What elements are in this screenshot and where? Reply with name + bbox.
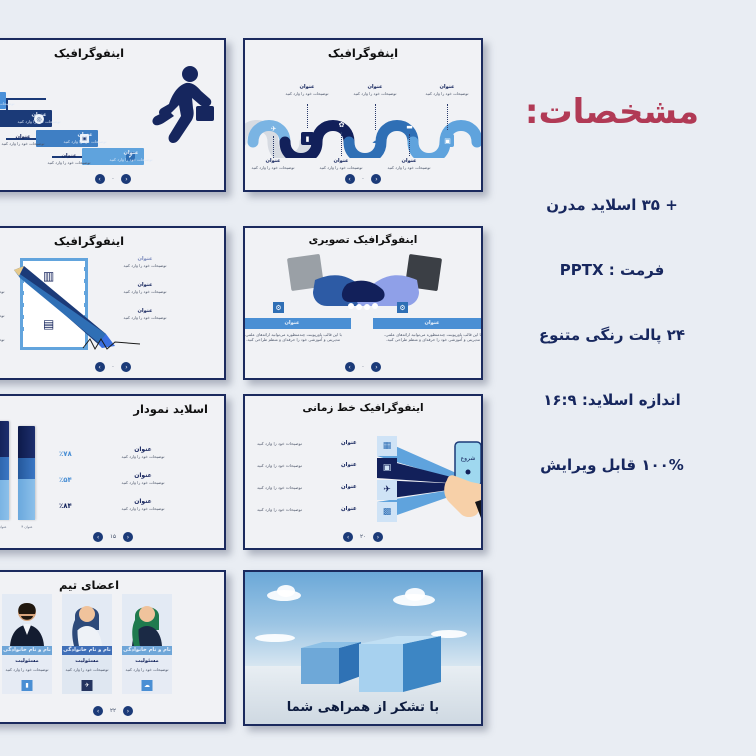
signature-squiggle (82, 336, 142, 354)
member-name-bar: نام و نام خانوادگی (122, 646, 172, 655)
svg-text:شروع: شروع (461, 455, 476, 462)
column-heading-bar-1: عنوان (245, 318, 351, 329)
step-caption-outer-2: عنوان توضیحات خود را وارد کنید (0, 134, 60, 146)
apps-icon: ▩ (377, 502, 397, 522)
chevron-right-icon[interactable]: › (371, 362, 381, 372)
chart-x-label-3: عنوان ۳ (0, 525, 12, 529)
chevron-right-icon[interactable]: › (371, 174, 381, 184)
timeline-heading-4: عنوان (341, 506, 357, 512)
member-body: توضیحات خود را وارد کنید (125, 667, 169, 672)
pencil-right-item-2: عنوان توضیحات خود را وارد کنید (104, 282, 186, 294)
chevron-right-icon[interactable]: › (123, 532, 133, 542)
feature-item-1: + ۳۵ اسلاید مدرن (482, 196, 742, 214)
chevron-left-icon[interactable]: ‹ (93, 706, 103, 716)
chart-value-1: ٪۷۸ (59, 450, 72, 458)
chart-bar-4 (18, 426, 35, 520)
member-role: مسئولیت (62, 658, 112, 665)
slide-title: اعضای تیم (0, 578, 224, 592)
connector-stem (375, 104, 377, 130)
rocket-icon: ✈ (82, 680, 93, 691)
step-caption-outer-1: عنوان توضیحات خود را وارد کنید (0, 114, 14, 126)
chevron-left-icon[interactable]: ‹ (95, 362, 105, 372)
timeline-body-1: توضیحات خود را وارد کنید (257, 441, 302, 446)
chevron-right-icon[interactable]: › (373, 532, 383, 542)
member-role: مسئولیت (2, 658, 52, 665)
column-body-2: با این قالب پاورپوینت چندمنظوره می‌توانی… (377, 332, 481, 343)
handshake-illustration (287, 254, 443, 316)
connector-stem (341, 132, 343, 156)
chevron-left-icon[interactable]: ‹ (93, 532, 103, 542)
pencil-left-item-3: عنوان توضیحات خود را وارد کنید (0, 330, 24, 342)
avatar (62, 594, 112, 646)
roadmap-label-top-2: عنوان توضیحات خود را وارد کنید (340, 84, 410, 96)
step-caption-outer-3: عنوان توضیحات خود را وارد کنید (32, 153, 106, 165)
slide-thumbnail-pencil[interactable]: اینفوگرافیک ▥ ▤ (0, 226, 226, 380)
timeline-body-3: توضیحات خود را وارد کنید (257, 485, 302, 490)
slide-title: اینفوگرافیک (0, 234, 224, 248)
briefcase-icon: ▮ (301, 132, 314, 145)
avatar (2, 594, 52, 646)
poster-root: اینفوگرافیک (0, 0, 756, 756)
chart-value-3: ٪۸۴ (59, 502, 72, 510)
hand-holding-smartphone-icon: شروع (441, 440, 481, 526)
feature-item-4: اندازه اسلاید: ۱۶:۹ (482, 391, 742, 409)
member-name-bar: نام و نام خانوادگی (62, 646, 112, 655)
timeline-body-4: توضیحات خود را وارد کنید (257, 507, 302, 512)
team-card-2[interactable]: نام و نام خانوادگی مسئولیت توضیحات خود ر… (2, 594, 52, 694)
connector-stem (409, 134, 411, 156)
chevron-right-icon[interactable]: › (121, 362, 131, 372)
chart-item-1: عنوان توضیحات خود را وارد کنید (88, 446, 198, 459)
roadmap-path (245, 102, 481, 158)
specs-panel: مشخصات: + ۳۵ اسلاید مدرن فرمت : PPTX ۲۴ … (482, 0, 756, 756)
timeline-heading-2: عنوان (341, 462, 357, 468)
chevron-left-icon[interactable]: ‹ (95, 174, 105, 184)
slide-thumbnail-visual-infographic[interactable]: اینفوگرافیک تصویری ⚙ ⚙ عنوان عنوان (243, 226, 483, 380)
chevron-left-icon[interactable]: ‹ (345, 174, 355, 184)
chevron-right-icon[interactable]: › (123, 706, 133, 716)
connector-stem (307, 104, 309, 128)
step-label-1: عنوان توضیحات خود را وارد کنید (0, 94, 30, 106)
chevron-left-icon[interactable]: ‹ (345, 362, 355, 372)
feature-item-5: ۱۰۰% قابل ویرایش (482, 456, 742, 474)
pencil-right-item-1: عنوان توضیحات خود را وارد کنید (104, 256, 186, 268)
member-body: توضیحات خود را وارد کنید (5, 667, 49, 672)
roadmap-label-top-3: عنوان توضیحات خود را وارد کنید (412, 84, 481, 96)
roadmap-label-bot-3: عنوان توضیحات خود را وارد کنید (374, 158, 444, 170)
chart-bar-3 (0, 421, 9, 520)
cloud-shape (405, 588, 425, 601)
rocket-icon: ✈ (267, 122, 280, 135)
blue-cube-left (299, 640, 363, 690)
gear-circle-icon: ⚙ (273, 302, 284, 313)
slide-nav[interactable]: ‹ ۱۵ › (0, 532, 224, 542)
cloud-shape (277, 585, 295, 597)
panel-title: مشخصات: (482, 92, 742, 132)
slide-thumbnail-roadmap[interactable]: اینفوگرافیک ✈ ▮ ✿ ☁ ▬ ▣ (243, 38, 483, 192)
roadmap-label-bot-2: عنوان توضیحات خود را وارد کنید (306, 158, 376, 170)
team-card-4[interactable]: نام و نام خانوادگی مسئولیت توضیحات خود ر… (122, 594, 172, 694)
stop-square-icon: ▣ (377, 458, 397, 478)
timeline-heading-1: عنوان (341, 440, 357, 446)
column-body-1: با این قالب پاورپوینت چندمنظوره می‌توانی… (245, 332, 349, 343)
cloud-icon: ☁ (369, 134, 382, 147)
slide-thumbnail-thanks[interactable]: با تشکر از همراهی شما (243, 570, 483, 726)
chat-icon: ▬ (403, 120, 416, 133)
gear-circle-icon: ⚙ (397, 302, 408, 313)
slide-gallery: اینفوگرافیک (0, 0, 482, 756)
pencil-left-item-2: عنوان توضیحات خود را وارد کنید (0, 306, 24, 318)
slide-thumbnail-timeline[interactable]: اینفوگرافیک خط زمانی ▦ ▣ ✈ ▩ شروع (243, 394, 483, 550)
rocket-icon: ✈ (377, 480, 397, 500)
slide-title: اینفوگرافیک (0, 46, 224, 60)
slide-nav[interactable]: ‹ ۰ › (0, 362, 224, 372)
feature-item-3: ۲۴ پالت رنگی متنوع (482, 326, 742, 344)
grid-icon: ▣ (441, 134, 454, 147)
chevron-right-icon[interactable]: › (121, 174, 131, 184)
member-role: مسئولیت (122, 658, 172, 665)
pencil-left-item-1: عنوان توضیحات خود را وارد کنید (0, 282, 24, 294)
connector-stem (273, 136, 275, 158)
slide-title: اسلاید نمودار (0, 402, 224, 416)
slide-title: اینفوگرافیک خط زمانی (245, 402, 481, 414)
roadmap-label-bot-1: عنوان توضیحات خود را وارد کنید (245, 158, 308, 170)
slide-nav[interactable]: ‹ ۰ › (245, 174, 481, 184)
user-icon: ▮ (22, 680, 33, 691)
team-card-3[interactable]: نام و نام خانوادگی مسئولیت توضیحات خود ر… (62, 594, 112, 694)
column-heading-bar-2: عنوان (373, 318, 481, 329)
avatar (122, 594, 172, 646)
slide-thumbnail-stairs[interactable]: اینفوگرافیک (0, 38, 226, 192)
timeline-heading-3: عنوان (341, 484, 357, 490)
chart-item-3: عنوان توضیحات خود را وارد کنید (88, 498, 198, 511)
slide-thumbnail-chart[interactable]: اسلاید نمودار (0, 394, 226, 550)
pencil-right-item-3: عنوان توضیحات خود را وارد کنید (104, 308, 186, 320)
member-name-bar: نام و نام خانوادگی (2, 646, 52, 655)
timeline-body-2: توضیحات خود را وارد کنید (257, 463, 302, 468)
connector-stem (447, 104, 449, 130)
slide-nav[interactable]: ‹ ۲۲ › (0, 706, 224, 716)
slide-thumbnail-team[interactable]: اعضای تیم نام و نام خانوادگی مسئولیت توض… (0, 570, 226, 724)
slide-nav[interactable]: ‹ ۲۰ › (245, 532, 481, 542)
businessman-silhouette-icon (146, 64, 218, 156)
blue-cube-right (357, 634, 443, 700)
cloud-shape (255, 634, 295, 642)
member-body: توضیحات خود را وارد کنید (65, 667, 109, 672)
gear-icon: ✿ (335, 118, 348, 131)
slide-nav[interactable]: ‹ ۰ › (245, 362, 481, 372)
roadmap-label-top-1: عنوان توضیحات خود را وارد کنید (272, 84, 342, 96)
chart-item-2: عنوان توضیحات خود را وارد کنید (88, 472, 198, 485)
chart-value-2: ٪۵۴ (59, 476, 72, 484)
slide-nav[interactable]: ‹ ۰ › (0, 174, 224, 184)
cloud-icon: ☁ (142, 680, 153, 691)
grid-square-icon: ▦ (377, 436, 397, 456)
slide-title: اینفوگرافیک (245, 46, 481, 60)
chevron-left-icon[interactable]: ‹ (343, 532, 353, 542)
slide-title: اینفوگرافیک تصویری (245, 234, 481, 246)
thanks-title: با تشکر از همراهی شما (245, 700, 481, 715)
feature-item-2: فرمت : PPTX (482, 261, 742, 279)
chart-x-label-4: عنوان ۴ (16, 525, 38, 529)
